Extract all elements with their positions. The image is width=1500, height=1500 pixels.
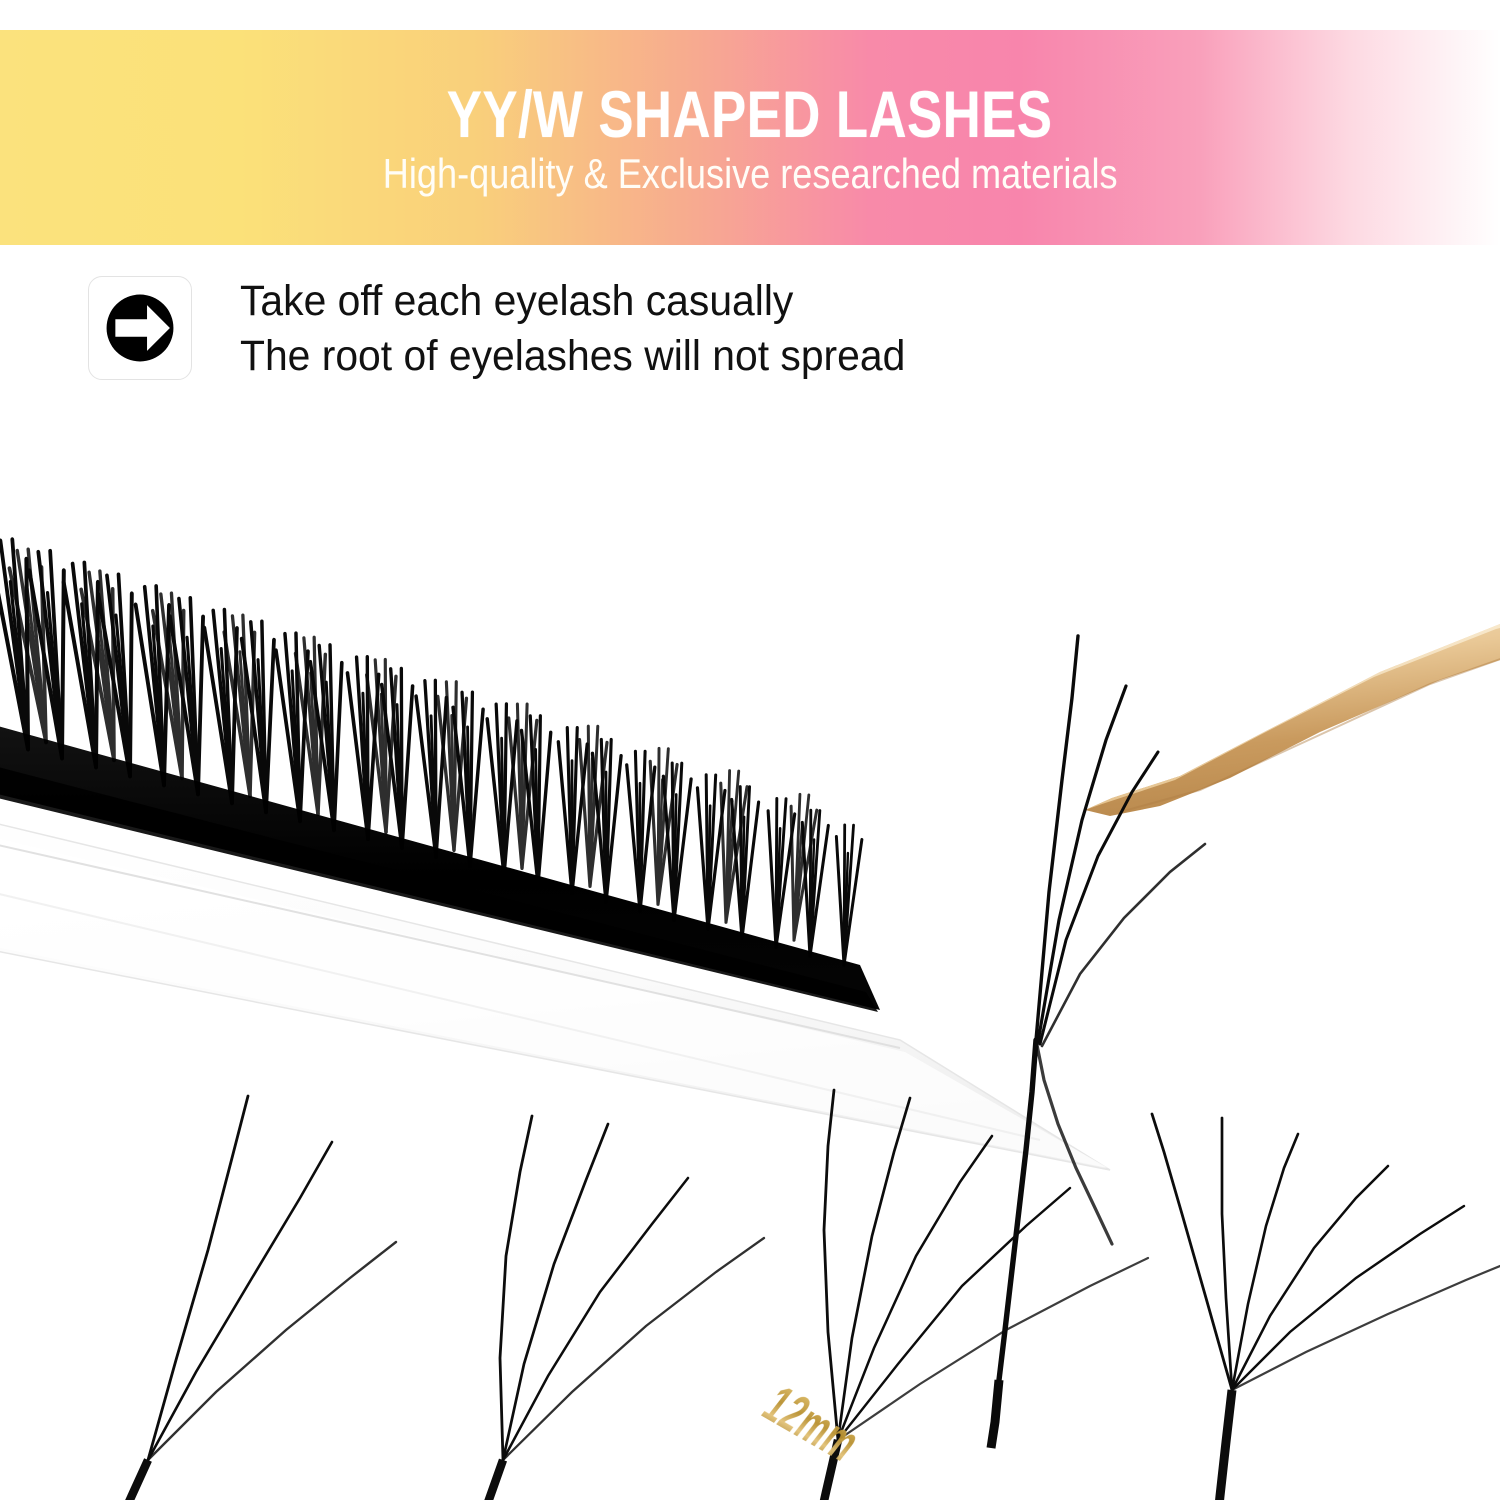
callout-line-1: Take off each eyelash casually (240, 274, 905, 329)
fan-sample-1 (92, 1096, 396, 1500)
product-infographic: YY/W SHAPED LASHES High-quality & Exclus… (0, 0, 1500, 1500)
fan-sample-4 (1152, 1114, 1500, 1500)
lifted-lash-fan (991, 636, 1205, 1448)
page-title: YY/W SHAPED LASHES (447, 81, 1053, 147)
product-photo: 12mm (0, 380, 1500, 1500)
lash-tray (0, 810, 1110, 1170)
feature-callout: Take off each eyelash casually The root … (88, 272, 1088, 392)
page-subtitle: High-quality & Exclusive researched mate… (383, 153, 1118, 195)
callout-line-2: The root of eyelashes will not spread (240, 329, 905, 384)
tweezers (1085, 606, 1500, 816)
lash-tray-illustration (0, 380, 1500, 1500)
fan-sample-2 (454, 1116, 764, 1500)
callout-text-block: Take off each eyelash casually The root … (240, 272, 905, 383)
header-banner: YY/W SHAPED LASHES High-quality & Exclus… (0, 30, 1500, 245)
arrow-right-circle-icon (88, 276, 192, 380)
